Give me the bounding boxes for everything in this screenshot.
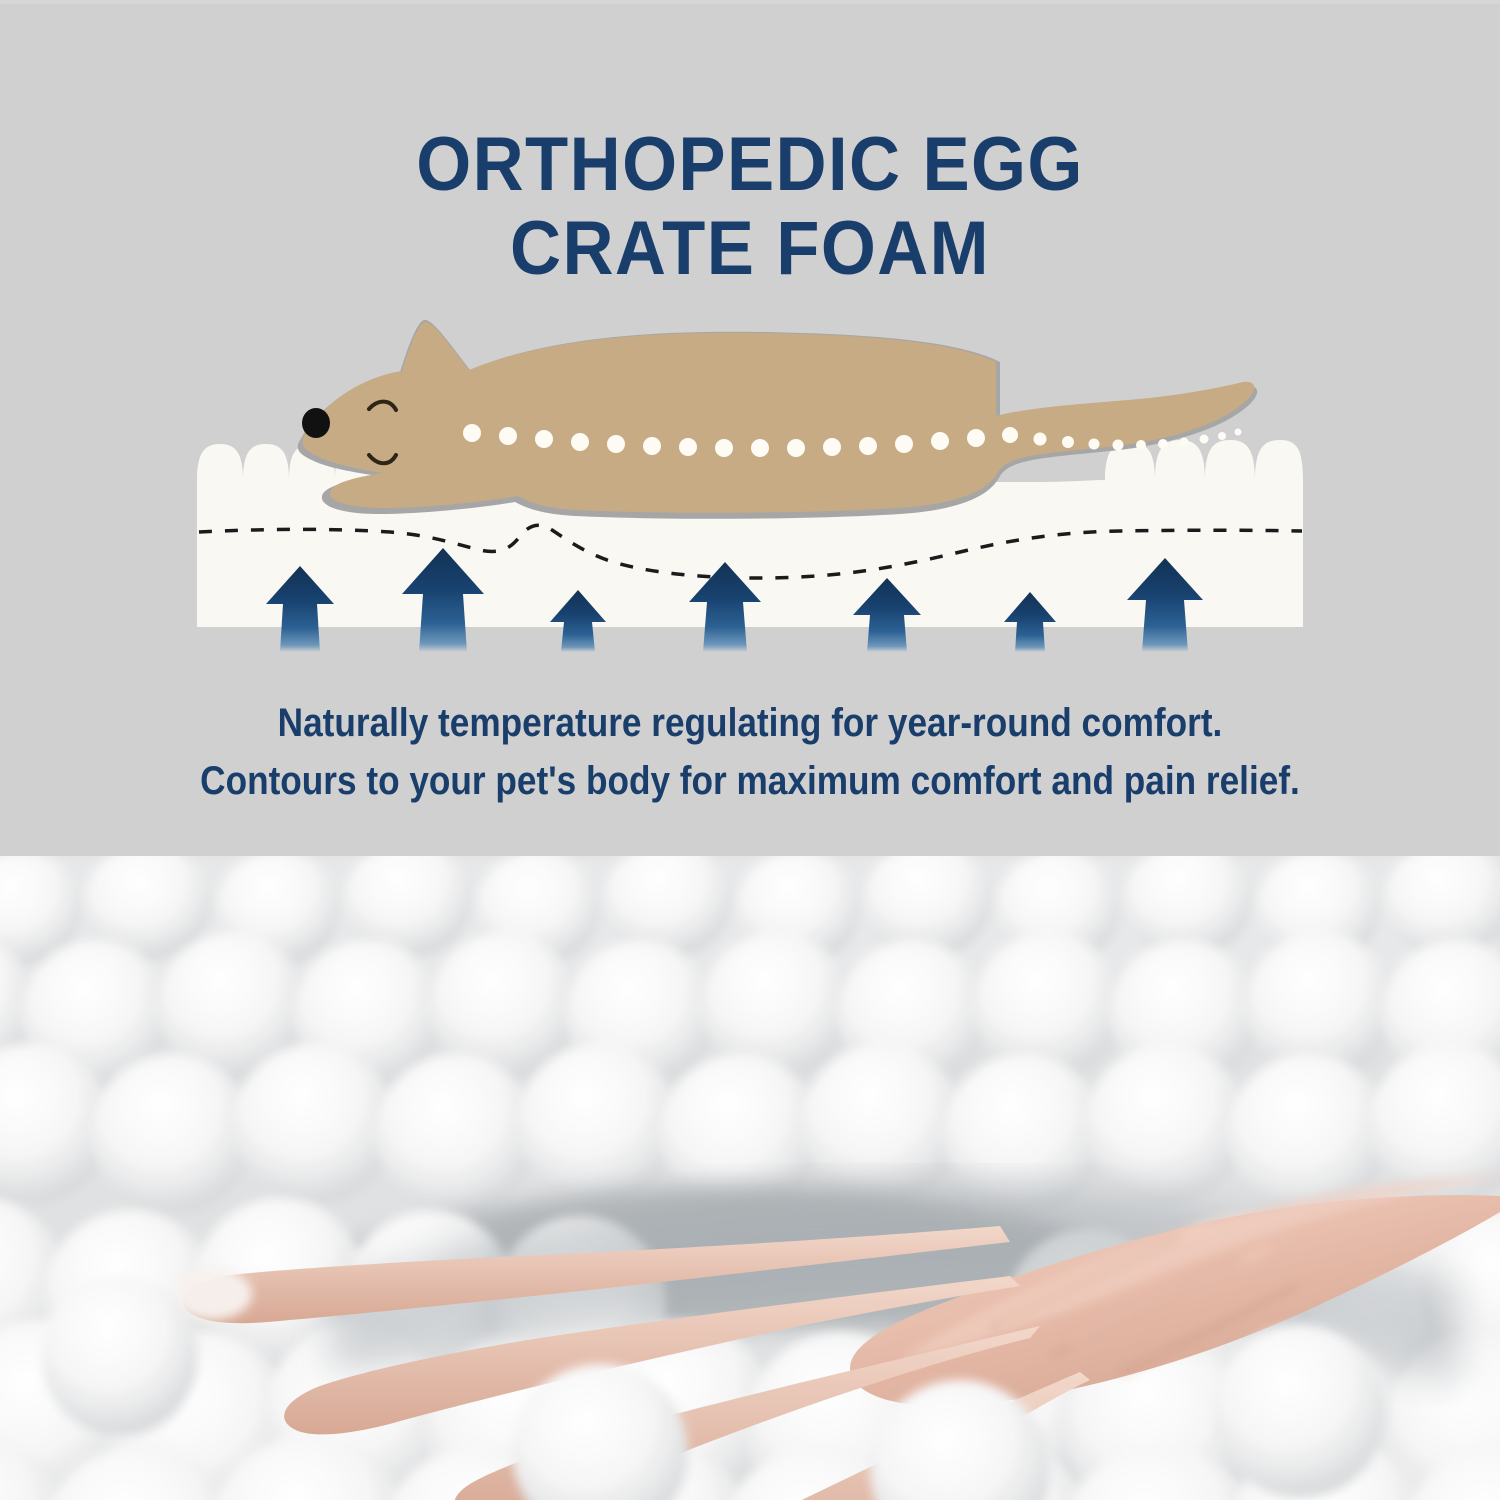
page-title: ORTHOPEDIC EGG CRATE FOAM xyxy=(53,123,1448,291)
infographic-panel: ORTHOPEDIC EGG CRATE FOAM xyxy=(0,0,1500,856)
foam-support-illustration xyxy=(0,300,1500,680)
dog-nose xyxy=(302,408,330,438)
feature-description: Naturally temperature regulating for yea… xyxy=(90,694,1410,810)
feature-line-1: Naturally temperature regulating for yea… xyxy=(90,694,1410,752)
foam-photo xyxy=(0,856,1500,1500)
top-edge-hairline xyxy=(0,0,1500,4)
feature-line-2: Contours to your pet's body for maximum … xyxy=(90,752,1410,810)
product-infographic-page: ORTHOPEDIC EGG CRATE FOAM xyxy=(0,0,1500,1500)
